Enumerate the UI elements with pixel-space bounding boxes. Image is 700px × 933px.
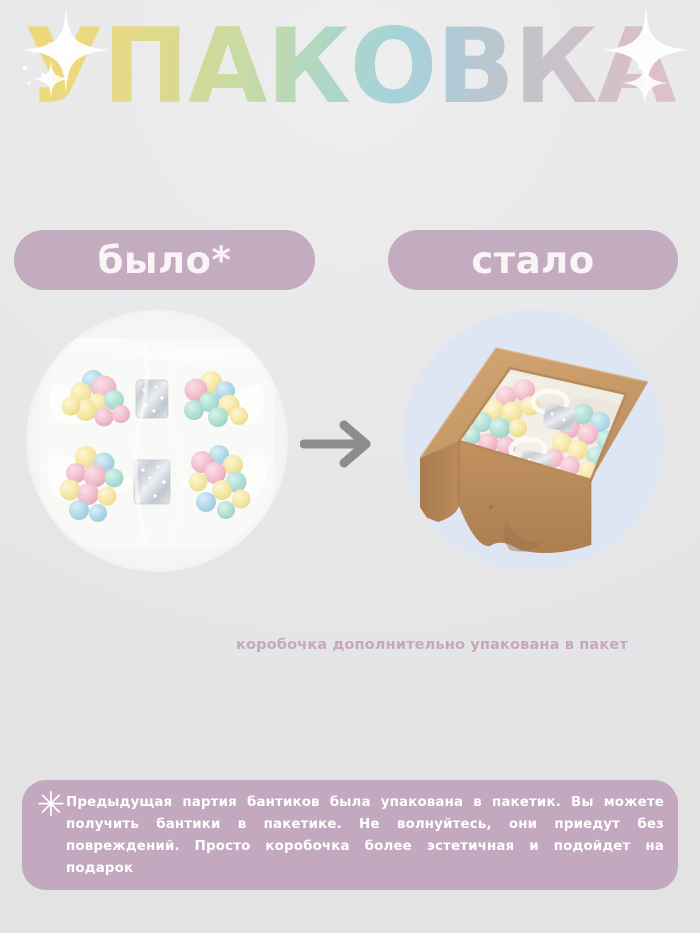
photo-after xyxy=(402,310,664,572)
photo-before xyxy=(26,310,288,572)
header-banner: УПАКОВКА xyxy=(0,0,700,135)
page-title: УПАКОВКА xyxy=(0,10,700,125)
badge-after: стало xyxy=(388,230,678,290)
packaging-caption: коробочка дополнительно упакована в паке… xyxy=(236,636,680,653)
footnote-panel: ✳ Предыдущая партия бантиков была упаков… xyxy=(22,780,678,890)
footnote-text: Предыдущая партия бантиков была упакован… xyxy=(66,792,664,880)
badge-before: было* xyxy=(14,230,315,290)
asterisk-icon: ✳ xyxy=(36,790,66,820)
arrow-right-icon xyxy=(300,418,376,470)
